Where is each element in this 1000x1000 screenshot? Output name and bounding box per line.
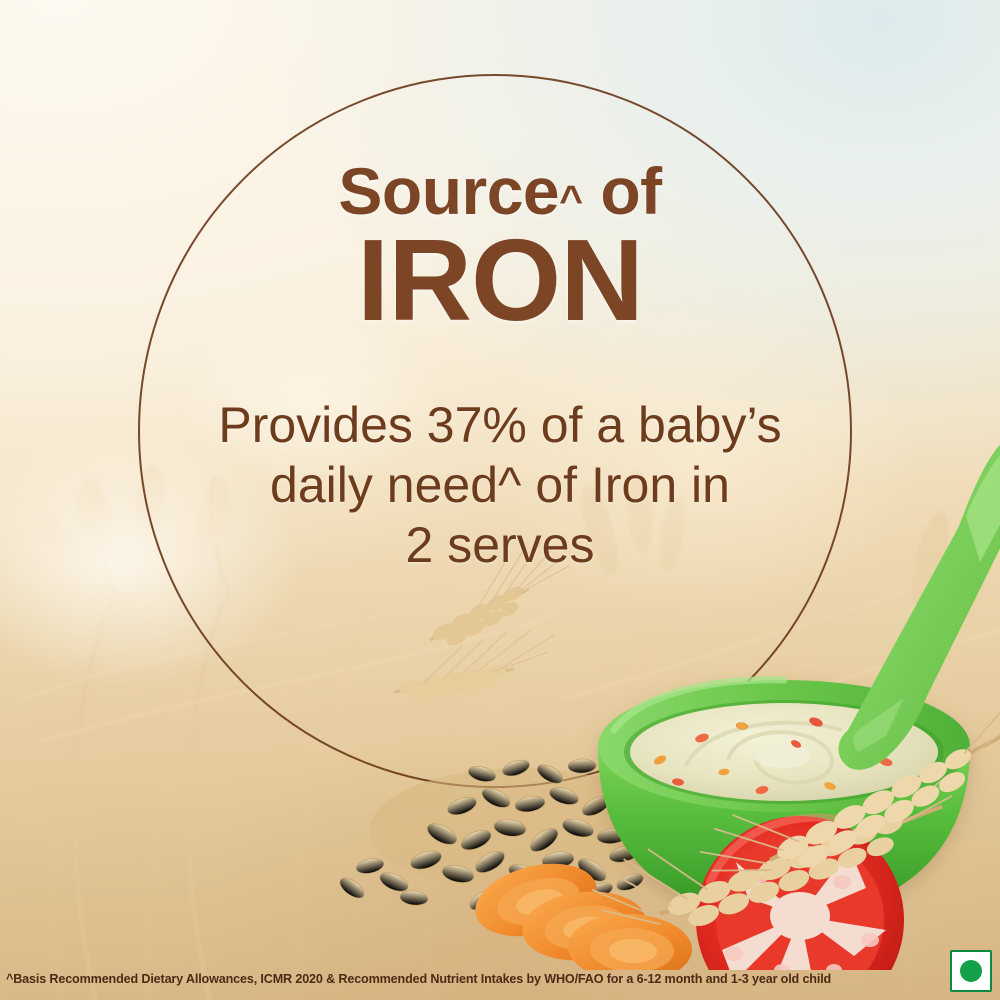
ad-creative: Source^ of IRON Provides 37% of a baby’s…	[0, 0, 1000, 1000]
wheat-ears-back-icon	[388, 536, 582, 706]
footnote-text: ^Basis Recommended Dietary Allowances, I…	[6, 972, 928, 986]
vegetarian-mark-icon	[950, 950, 992, 992]
vegetarian-mark-dot	[960, 960, 982, 982]
food-photograph	[330, 430, 1000, 970]
